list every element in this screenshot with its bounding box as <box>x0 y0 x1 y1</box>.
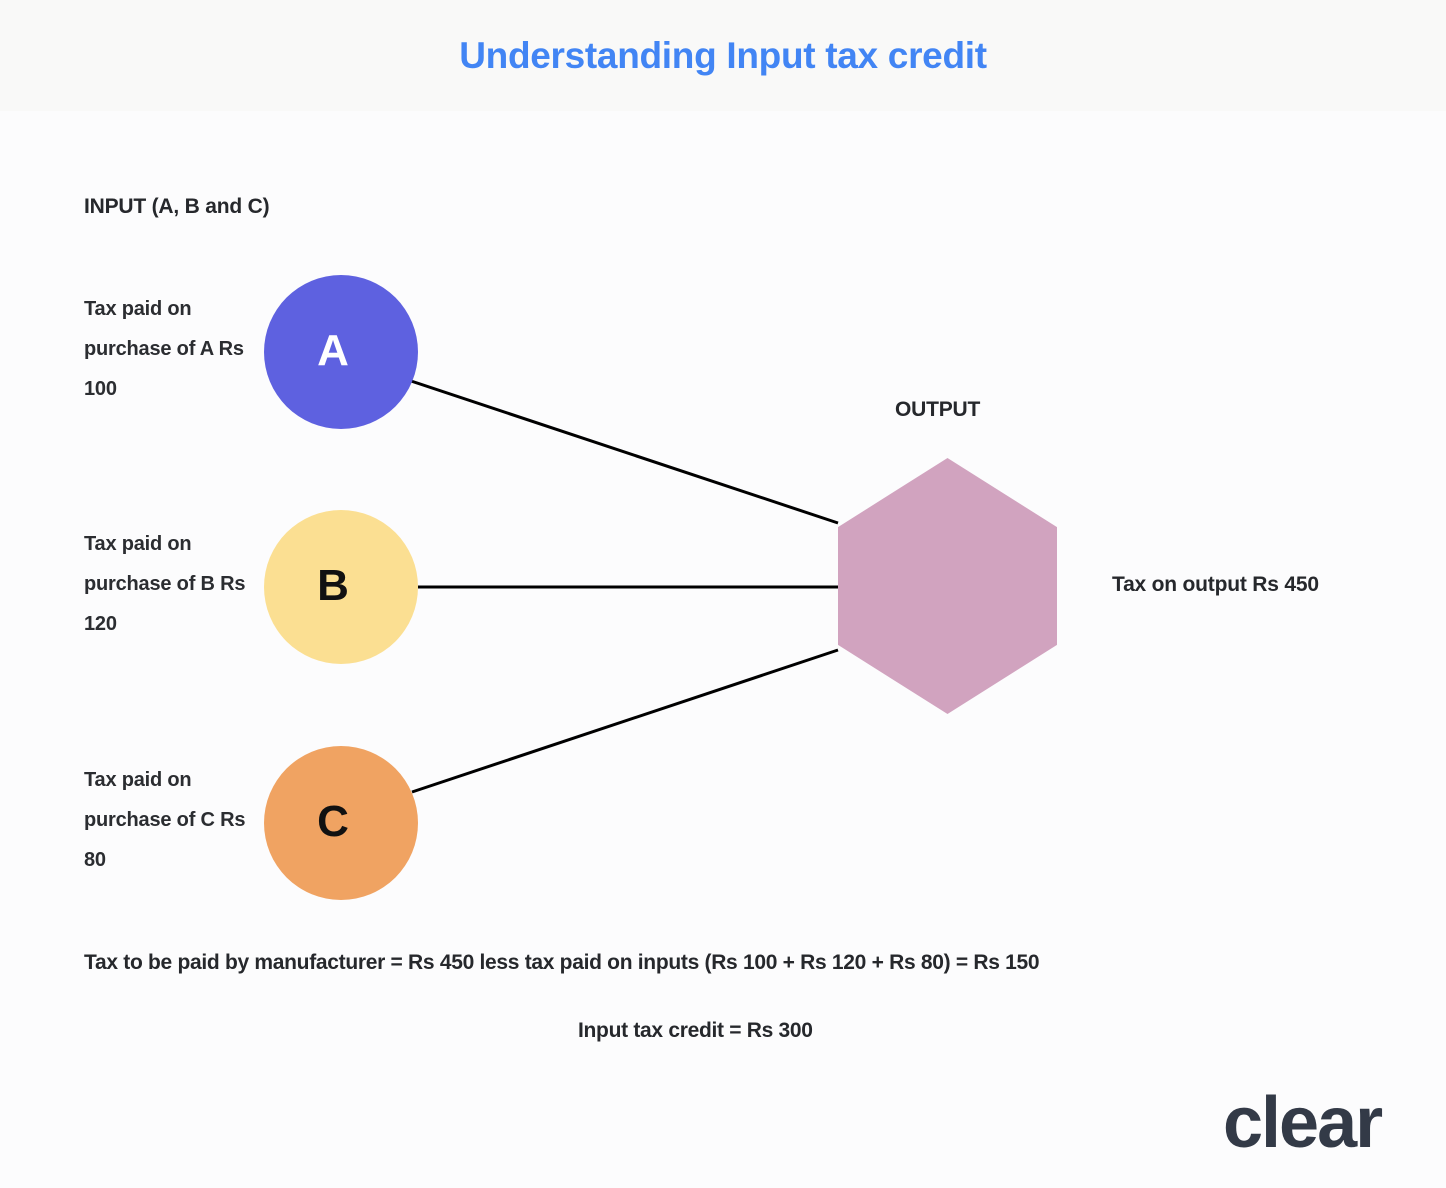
input-node-c-letter: C <box>317 800 349 844</box>
output-caption: Tax on output Rs 450 <box>1112 573 1319 597</box>
output-group-label: OUTPUT <box>895 398 980 422</box>
page-title: Understanding Input tax credit <box>0 0 1446 111</box>
input-caption-b: Tax paid on purchase of B Rs 120 <box>84 524 269 644</box>
input-node-c: C <box>264 746 418 900</box>
diagram-canvas: INPUT (A, B and C) OUTPUT Tax paid on pu… <box>0 111 1446 1188</box>
input-node-a: A <box>264 275 418 429</box>
clear-logo: clear <box>1223 1087 1381 1159</box>
connector-c-to-output <box>412 650 838 792</box>
input-caption-c: Tax paid on purchase of C Rs 80 <box>84 760 269 880</box>
footer-equation: Tax to be paid by manufacturer = Rs 450 … <box>84 951 1039 975</box>
input-node-a-letter: A <box>317 329 349 373</box>
output-node-hexagon <box>838 458 1057 714</box>
connector-a-to-output <box>408 380 838 523</box>
input-caption-a: Tax paid on purchase of A Rs 100 <box>84 289 269 409</box>
input-node-b-letter: B <box>317 564 349 608</box>
input-group-label: INPUT (A, B and C) <box>84 195 269 219</box>
footer-input-tax-credit: Input tax credit = Rs 300 <box>578 1019 813 1043</box>
input-node-b: B <box>264 510 418 664</box>
